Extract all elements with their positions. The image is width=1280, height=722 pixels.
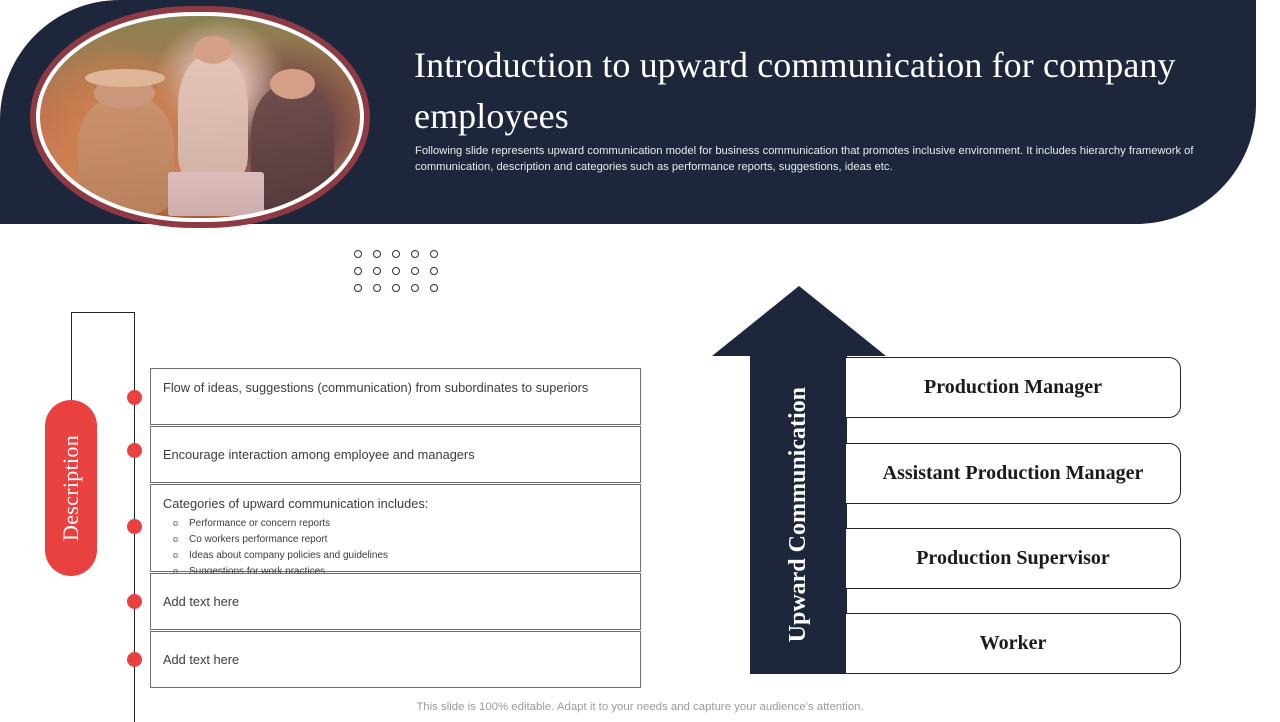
description-bullet-list: Performance or concern reportsCo workers… — [163, 516, 630, 581]
description-box-heading: Categories of upward communication inclu… — [163, 495, 630, 514]
decorative-dot-grid — [354, 250, 438, 296]
grid-dot — [373, 250, 381, 258]
grid-dot — [392, 250, 400, 258]
description-box[interactable]: Encourage interaction among employee and… — [150, 426, 641, 483]
arrow-label: Upward Communication — [750, 355, 847, 674]
description-bullet-item: Co workers performance report — [163, 532, 630, 548]
photo-person-left-hat — [85, 69, 165, 87]
grid-dot — [354, 267, 362, 275]
photo-person-right-head — [270, 69, 315, 99]
description-box[interactable]: Flow of ideas, suggestions (communicatio… — [150, 368, 641, 425]
page-subtitle: Following slide represents upward commun… — [415, 144, 1245, 176]
grid-dot — [373, 284, 381, 292]
photo-desk — [40, 200, 360, 218]
hierarchy-level-label: Production Supervisor — [916, 547, 1110, 570]
description-box-text: Add text here — [163, 651, 630, 670]
hierarchy-level-box[interactable]: Worker — [845, 613, 1181, 674]
hierarchy-level-box[interactable]: Assistant Production Manager — [845, 443, 1181, 504]
description-badge-label: Description — [58, 435, 84, 541]
bracket-top-line — [71, 312, 135, 313]
timeline-dot — [127, 519, 142, 534]
description-box[interactable]: Add text here — [150, 631, 641, 688]
photo-image — [40, 16, 360, 218]
description-box-text: Add text here — [163, 593, 630, 612]
arrow-head-icon — [712, 286, 886, 356]
slide-canvas: Introduction to upward communication for… — [0, 0, 1280, 720]
grid-dot — [430, 284, 438, 292]
timeline-dot — [127, 390, 142, 405]
hierarchy-level-box[interactable]: Production Supervisor — [845, 528, 1181, 589]
arrow-label-text: Upward Communication — [785, 387, 812, 642]
timeline-dot — [127, 594, 142, 609]
description-badge: Description — [45, 400, 97, 576]
grid-dot — [354, 250, 362, 258]
photo-person-right — [251, 85, 334, 210]
description-box[interactable]: Categories of upward communication inclu… — [150, 484, 641, 572]
hierarchy-level-label: Worker — [980, 632, 1047, 655]
photo-person-standing — [178, 56, 248, 181]
editable-note: This slide is 100% editable. Adapt it to… — [0, 701, 1280, 713]
description-box-text: Flow of ideas, suggestions (communicatio… — [163, 379, 630, 398]
description-box-text: Categories of upward communication inclu… — [163, 495, 630, 580]
grid-dot — [411, 267, 419, 275]
header-photo — [30, 6, 370, 228]
page-title: Introduction to upward communication for… — [414, 40, 1214, 142]
timeline-dot — [127, 443, 142, 458]
timeline-dot — [127, 652, 142, 667]
photo-person-standing-head — [194, 36, 232, 64]
grid-dot — [354, 284, 362, 292]
grid-dot — [411, 284, 419, 292]
grid-dot — [430, 250, 438, 258]
photo-laptop — [168, 172, 264, 216]
hierarchy-level-label: Production Manager — [924, 376, 1102, 399]
hierarchy-level-box[interactable]: Production Manager — [845, 357, 1181, 418]
photo-person-left-head — [94, 77, 155, 109]
description-bullet-item: Ideas about company policies and guideli… — [163, 548, 630, 564]
grid-dot — [430, 267, 438, 275]
description-bullet-item: Performance or concern reports — [163, 516, 630, 532]
grid-dot — [373, 267, 381, 275]
description-box-text: Encourage interaction among employee and… — [163, 446, 630, 465]
description-box[interactable]: Add text here — [150, 573, 641, 630]
photo-person-left — [78, 97, 174, 214]
grid-dot — [392, 267, 400, 275]
photo-clip — [40, 16, 360, 218]
hierarchy-level-label: Assistant Production Manager — [883, 462, 1144, 485]
grid-dot — [392, 284, 400, 292]
grid-dot — [411, 250, 419, 258]
